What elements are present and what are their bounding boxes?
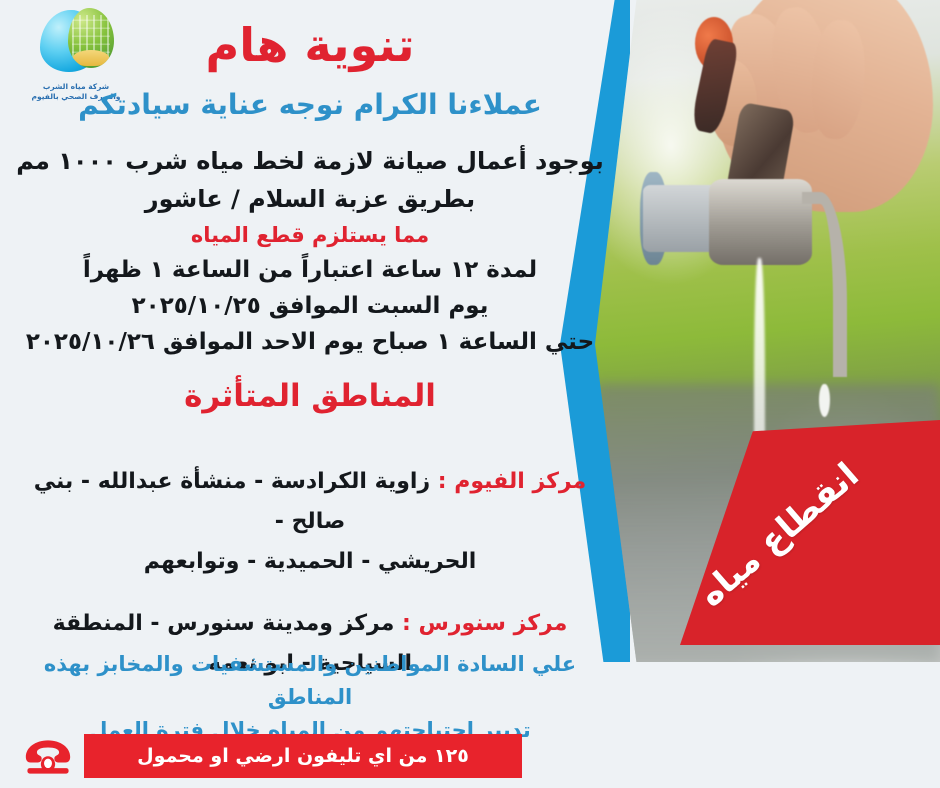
area-group-label: مركز سنورس :: [402, 611, 567, 636]
body-line-2: بطريق عزبة السلام / عاشور: [0, 180, 620, 218]
advisory-line-1: علي السادة المواطنين والمستشفيات والمخاب…: [0, 648, 620, 714]
affected-areas-heading: المناطق المتأثرة: [0, 378, 620, 414]
telephone-icon: [22, 738, 74, 776]
area-group-line-1: مركز الفيوم : زاوية الكرادسة - منشأة عبد…: [16, 462, 604, 542]
water-drip: [819, 384, 829, 417]
tap-body: [709, 179, 813, 265]
page-title: تنوية هام: [0, 18, 620, 72]
area-group: مركز الفيوم : زاوية الكرادسة - منشأة عبد…: [16, 462, 604, 582]
hotline-bar[interactable]: ١٢٥ من اي تليفون ارضي او محمول: [84, 734, 522, 778]
body-line-3-highlight: مما يستلزم قطع المياه: [0, 218, 620, 252]
tap-spout: [802, 192, 847, 377]
hotline-label: ١٢٥ من اي تليفون ارضي او محمول: [137, 745, 469, 767]
schedule-block: لمدة ١٢ ساعة اعتباراً من الساعة ١ ظهراً …: [0, 252, 620, 360]
area-group-label: مركز الفيوم :: [438, 469, 586, 494]
schedule-duration: لمدة ١٢ ساعة اعتباراً من الساعة ١ ظهراً: [0, 252, 620, 288]
body-line-1: بوجود أعمال صيانة لازمة لخط مياه شرب ١٠٠…: [0, 142, 620, 180]
page-subtitle: عملاءنا الكرام نوجه عناية سيادتكم: [0, 88, 620, 121]
announcement-body: بوجود أعمال صيانة لازمة لخط مياه شرب ١٠٠…: [0, 142, 620, 252]
area-group-text: زاوية الكرادسة - منشأة عبدالله - بني صال…: [34, 469, 430, 534]
tap-inlet-pipe: [643, 185, 719, 251]
area-group-line-2: الحريشي - الحميدية - وتوابعهم: [16, 542, 604, 582]
area-group-line-1: مركز سنورس : مركز ومدينة سنورس - المنطقة: [16, 604, 604, 644]
content-column: تنوية هام عملاءنا الكرام نوجه عناية سياد…: [0, 0, 620, 788]
poster-root: انقطاع مياه شركة مياه الشرب والصرف الصحي…: [0, 0, 940, 788]
schedule-end-date: حتي الساعة ١ صباح يوم الاحد الموافق ٢٠٢٥…: [0, 324, 620, 360]
hotline-section: ١٢٥ من اي تليفون ارضي او محمول: [0, 726, 940, 788]
schedule-start-date: يوم السبت الموافق ٢٠٢٥/١٠/٢٥: [0, 288, 620, 324]
area-group-text: مركز ومدينة سنورس - المنطقة: [53, 611, 395, 636]
